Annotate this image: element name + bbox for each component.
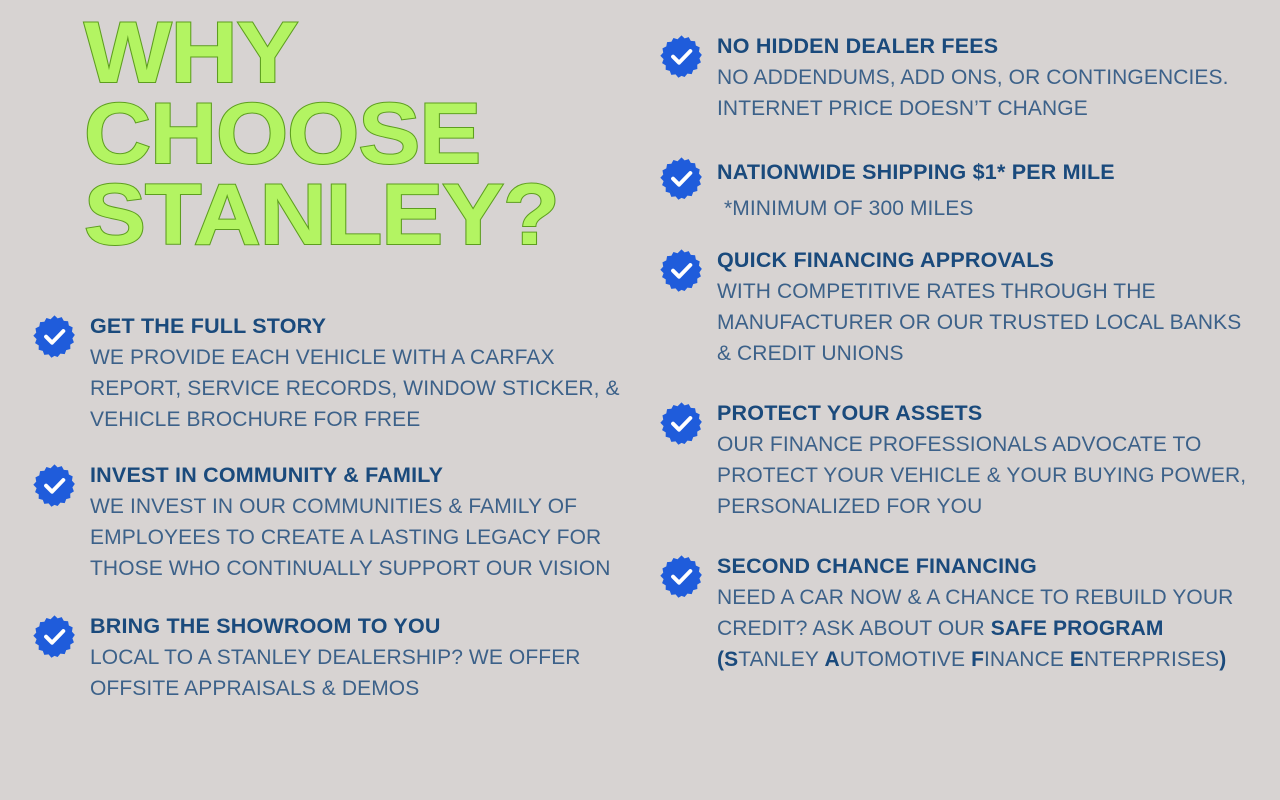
body-segment: TANLEY bbox=[738, 648, 824, 671]
check-badge-icon bbox=[32, 614, 77, 659]
body-segment: INANCE bbox=[984, 648, 1070, 671]
body-segment-bold: F bbox=[971, 648, 984, 671]
feature-body: WE PROVIDE EACH VEHICLE WITH A CARFAX RE… bbox=[90, 342, 628, 435]
feature-body: NO ADDENDUMS, ADD ONS, OR CONTINGENCIES.… bbox=[717, 62, 1255, 124]
feature-bring-the-showroom-to-you: BRING THE SHOWROOM TO YOU LOCAL TO A STA… bbox=[28, 612, 628, 704]
feature-body: *MINIMUM OF 300 MILES bbox=[717, 193, 1255, 224]
page-title: WHY CHOOSE STANLEY? bbox=[84, 22, 604, 246]
title-line-choose: CHOOSE bbox=[84, 103, 646, 165]
check-badge-icon bbox=[659, 401, 704, 446]
feature-second-chance-financing: SECOND CHANCE FINANCING NEED A CAR NOW &… bbox=[655, 552, 1255, 675]
check-badge-icon bbox=[659, 248, 704, 293]
check-badge-icon bbox=[659, 156, 704, 201]
feature-heading: QUICK FINANCING APPROVALS bbox=[717, 246, 1255, 274]
feature-body: OUR FINANCE PROFESSIONALS ADVOCATE TO PR… bbox=[717, 429, 1255, 522]
body-segment-bold: E bbox=[1070, 648, 1084, 671]
feature-no-hidden-dealer-fees: NO HIDDEN DEALER FEES NO ADDENDUMS, ADD … bbox=[655, 32, 1255, 124]
feature-heading: PROTECT YOUR ASSETS bbox=[717, 399, 1255, 427]
feature-nationwide-shipping: NATIONWIDE SHIPPING $1* PER MILE *MINIMU… bbox=[655, 154, 1255, 224]
body-segment: NTERPRISES bbox=[1084, 648, 1219, 671]
body-segment-bold: A bbox=[825, 648, 840, 671]
feature-body: WITH COMPETITIVE RATES THROUGH THE MANUF… bbox=[717, 276, 1255, 369]
feature-heading: NO HIDDEN DEALER FEES bbox=[717, 32, 1255, 60]
body-segment-bold: ) bbox=[1219, 648, 1226, 671]
check-badge-icon bbox=[659, 34, 704, 79]
feature-body: WE INVEST IN OUR COMMUNITIES & FAMILY OF… bbox=[90, 491, 628, 584]
feature-list-right: NO HIDDEN DEALER FEES NO ADDENDUMS, ADD … bbox=[655, 32, 1255, 699]
feature-heading: GET THE FULL STORY bbox=[90, 312, 628, 340]
feature-get-the-full-story: GET THE FULL STORY WE PROVIDE EACH VEHIC… bbox=[28, 312, 628, 435]
feature-invest-in-community-and-family: INVEST IN COMMUNITY & FAMILY WE INVEST I… bbox=[28, 461, 628, 584]
feature-heading: SECOND CHANCE FINANCING bbox=[717, 552, 1255, 580]
check-badge-icon bbox=[32, 463, 77, 508]
check-badge-icon bbox=[659, 554, 704, 599]
title-line-stanley: STANLEY? bbox=[84, 184, 646, 246]
feature-body: LOCAL TO A STANLEY DEALERSHIP? WE OFFER … bbox=[90, 642, 628, 704]
feature-body-note: *MINIMUM OF 300 MILES bbox=[717, 193, 1255, 224]
feature-quick-financing-approvals: QUICK FINANCING APPROVALS WITH COMPETITI… bbox=[655, 246, 1255, 369]
feature-heading: NATIONWIDE SHIPPING $1* PER MILE bbox=[717, 154, 1255, 191]
title-line-why: WHY bbox=[84, 22, 646, 84]
check-badge-icon bbox=[32, 314, 77, 359]
feature-protect-your-assets: PROTECT YOUR ASSETS OUR FINANCE PROFESSI… bbox=[655, 399, 1255, 522]
feature-heading: INVEST IN COMMUNITY & FAMILY bbox=[90, 461, 628, 489]
feature-list-left: GET THE FULL STORY WE PROVIDE EACH VEHIC… bbox=[28, 312, 628, 732]
feature-heading: BRING THE SHOWROOM TO YOU bbox=[90, 612, 628, 640]
feature-body: NEED A CAR NOW & A CHANCE TO REBUILD YOU… bbox=[717, 582, 1255, 675]
body-segment: UTOMOTIVE bbox=[840, 648, 971, 671]
